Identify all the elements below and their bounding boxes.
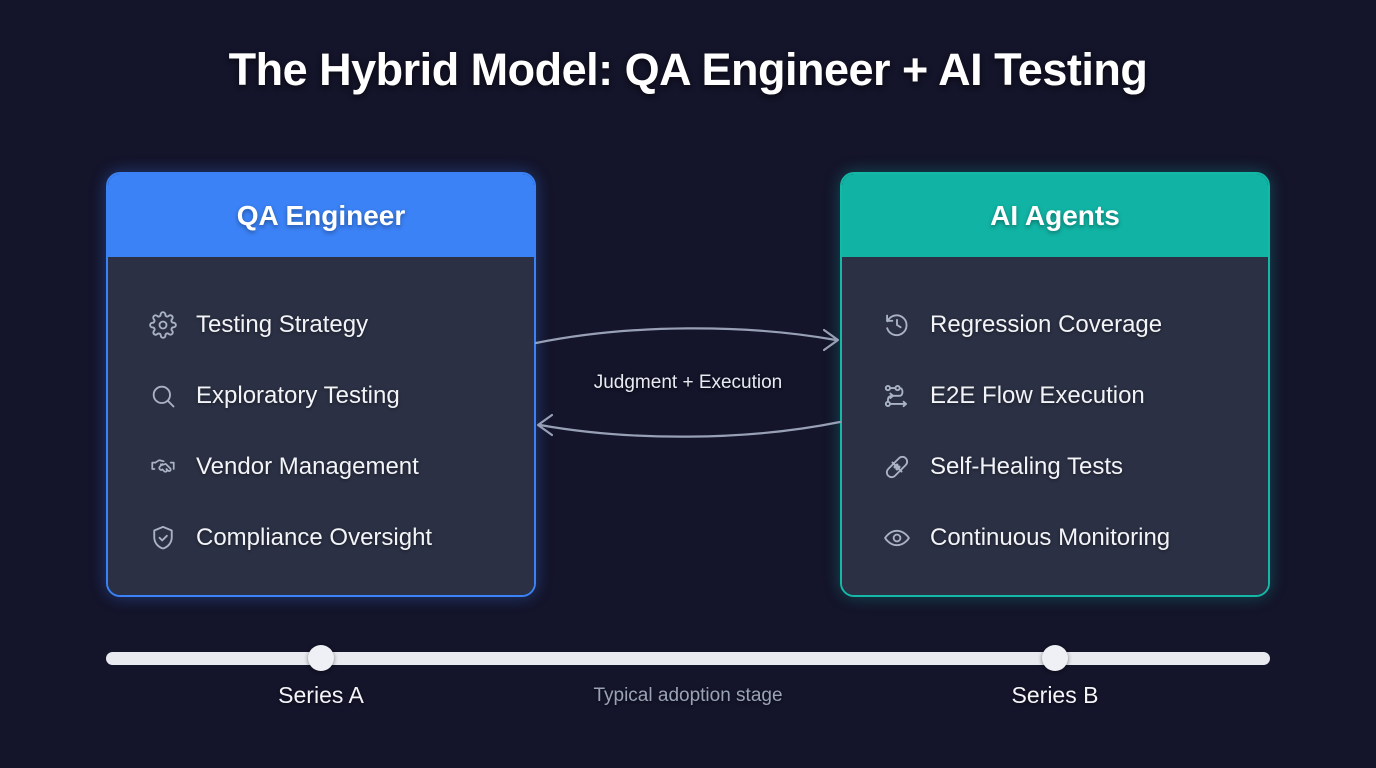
bandage-icon — [882, 452, 912, 482]
list-item[interactable]: Self-Healing Tests — [842, 431, 1268, 502]
slider-handle-series-b[interactable] — [1042, 645, 1068, 671]
handshake-icon — [148, 452, 178, 482]
page-title: The Hybrid Model: QA Engineer + AI Testi… — [0, 44, 1376, 96]
slider-track[interactable] — [106, 652, 1270, 665]
search-icon — [148, 381, 178, 411]
list-item[interactable]: E2E Flow Execution — [842, 360, 1268, 431]
list-item-label: Testing Strategy — [196, 311, 368, 339]
list-item[interactable]: Regression Coverage — [842, 289, 1268, 360]
eye-icon — [882, 523, 912, 553]
bidirectional-connector: Judgment + Execution — [530, 300, 846, 460]
gear-icon — [148, 310, 178, 340]
list-item[interactable]: Vendor Management — [108, 431, 534, 502]
list-item[interactable]: Continuous Monitoring — [842, 502, 1268, 573]
card-ai-agents-header: AI Agents — [842, 174, 1268, 257]
card-qa-engineer[interactable]: QA Engineer Testing Strategy — [106, 172, 536, 597]
slider-labels: Series A Typical adoption stage Series B — [0, 682, 1376, 722]
adoption-slider[interactable] — [106, 650, 1270, 668]
list-item-label: Self-Healing Tests — [930, 453, 1123, 481]
list-item[interactable]: Compliance Oversight — [108, 502, 534, 573]
card-qa-engineer-header: QA Engineer — [108, 174, 534, 257]
list-item-label: Regression Coverage — [930, 311, 1162, 339]
list-item-label: Vendor Management — [196, 453, 419, 481]
slider-label-series-a: Series A — [278, 682, 364, 709]
slider-label-middle: Typical adoption stage — [593, 685, 782, 707]
slide-canvas: The Hybrid Model: QA Engineer + AI Testi… — [0, 0, 1376, 768]
slider-handle-series-a[interactable] — [308, 645, 334, 671]
list-item[interactable]: Exploratory Testing — [108, 360, 534, 431]
card-qa-engineer-body: Testing Strategy Exploratory Testing — [108, 257, 534, 595]
list-item-label: Exploratory Testing — [196, 382, 400, 410]
history-icon — [882, 310, 912, 340]
arrow-line-right — [536, 328, 836, 343]
list-item[interactable]: Testing Strategy — [108, 289, 534, 360]
list-item-label: Compliance Oversight — [196, 524, 432, 552]
shield-check-icon — [148, 523, 178, 553]
list-item-label: E2E Flow Execution — [930, 382, 1145, 410]
list-item-label: Continuous Monitoring — [930, 524, 1170, 552]
card-ai-agents[interactable]: AI Agents Regression Coverage — [840, 172, 1270, 597]
connector-label: Judgment + Execution — [530, 372, 846, 394]
slider-label-series-b: Series B — [1012, 682, 1099, 709]
arrow-line-left — [540, 422, 840, 437]
card-ai-agents-body: Regression Coverage — [842, 257, 1268, 595]
flow-network-icon — [882, 381, 912, 411]
